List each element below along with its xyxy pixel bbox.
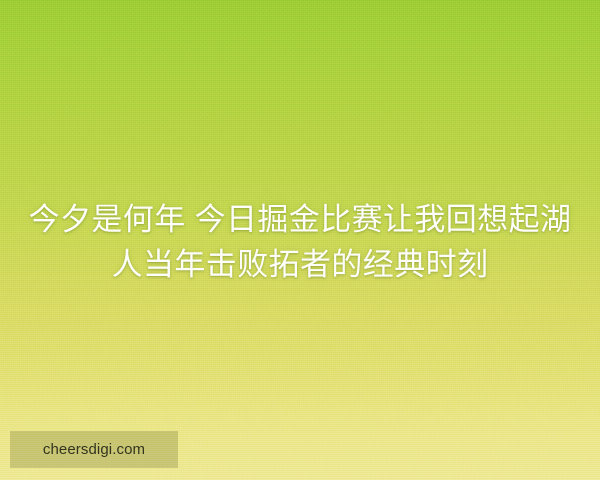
watermark-badge: cheersdigi.com	[10, 431, 178, 468]
watermark-label: cheersdigi.com	[43, 442, 145, 457]
headline-text: 今夕是何年 今日掘金比赛让我回想起湖 人当年击败拓者的经典时刻	[0, 197, 600, 287]
poster-canvas: 今夕是何年 今日掘金比赛让我回想起湖 人当年击败拓者的经典时刻 cheersdi…	[0, 0, 600, 480]
